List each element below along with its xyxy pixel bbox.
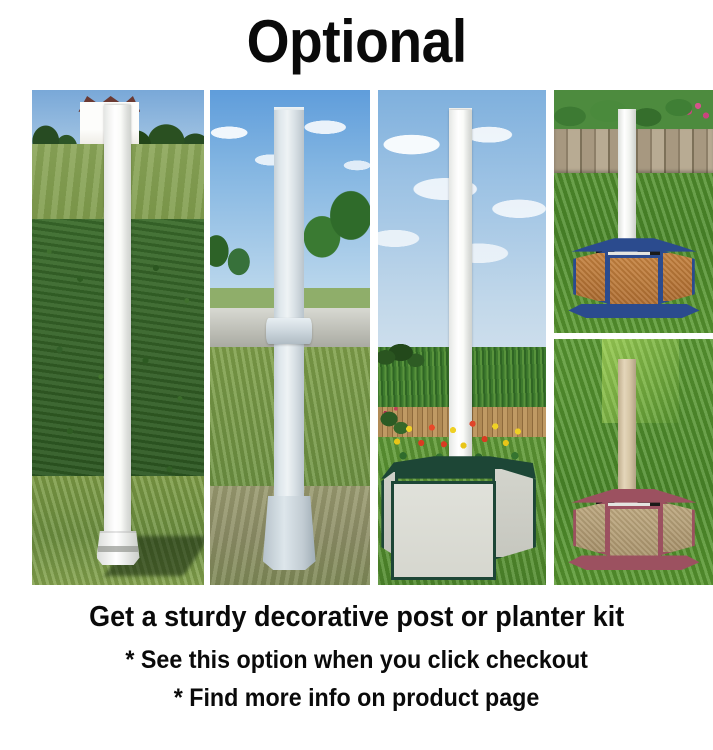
planter-right-face [492, 466, 536, 560]
page-title: Optional [0, 8, 713, 76]
gallery-image-white-post-in-green-planter[interactable] [378, 90, 546, 585]
post-base-skirt [263, 496, 316, 570]
planter-base-trim [568, 555, 699, 570]
tan-post [618, 359, 636, 512]
post-base-trim-line [98, 546, 138, 551]
gallery-image-white-post-with-collar-by-road[interactable] [210, 90, 370, 585]
caption-bullet-checkout: * See this option when you click checkou… [0, 645, 713, 675]
caption-bullet-product-page: * Find more info on product page [0, 683, 713, 713]
caption-headline: Get a sturdy decorative post or planter … [0, 600, 713, 634]
page-title-text: Optional [246, 8, 466, 76]
sunlight-patch [602, 339, 679, 423]
planter-front-face [391, 481, 495, 580]
gallery-image-white-post-in-soybean-field[interactable] [32, 90, 204, 585]
white-post [618, 109, 636, 260]
gallery-image-tan-post-in-cranberry-planter-kit[interactable] [554, 339, 713, 585]
background-trees [378, 328, 432, 378]
white-vinyl-post [104, 105, 131, 560]
caption-headline-text: Get a sturdy decorative post or planter … [89, 600, 624, 634]
planter-base-trim [568, 304, 699, 319]
caption-bullet-checkout-text: * See this option when you click checkou… [125, 645, 588, 675]
post-collar-trim [266, 318, 312, 345]
caption-bullet-product-page-text: * Find more info on product page [174, 683, 540, 713]
product-image-gallery [32, 90, 682, 585]
gallery-image-white-post-in-blue-cedar-planter-kit[interactable] [554, 90, 713, 333]
